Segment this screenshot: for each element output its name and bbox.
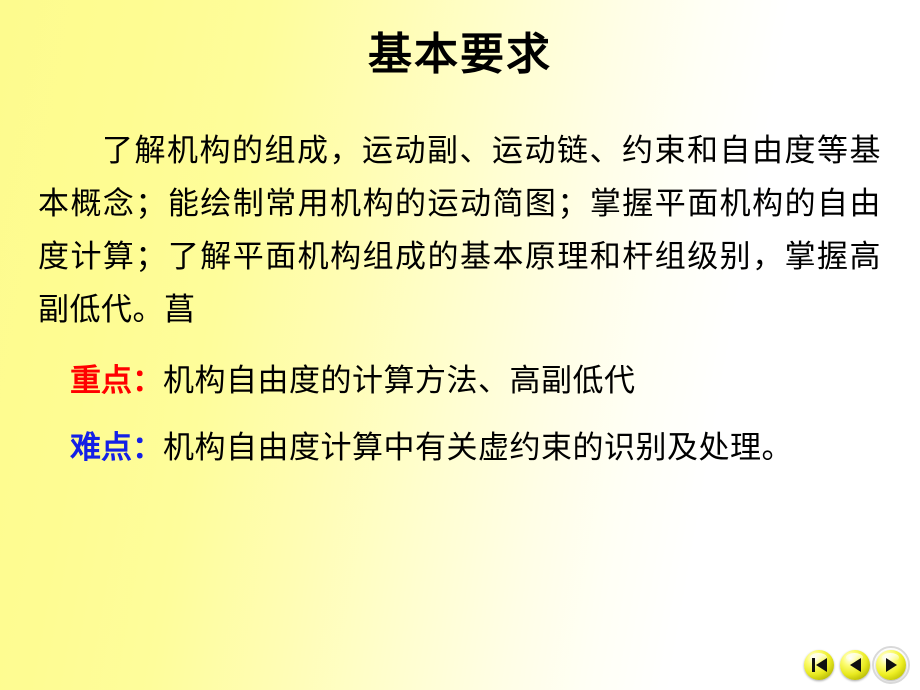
triangle-right-icon <box>886 658 897 672</box>
difficult-point-label: 难点： <box>70 430 163 466</box>
slide-body: 了解机构的组成，运动副、运动链、约束和自由度等基本概念；能绘制常用机构的运动简图… <box>38 125 888 475</box>
difficult-point-line: 难点：机构自由度计算中有关虚约束的识别及处理。 <box>38 422 888 475</box>
key-point-text: 机构自由度的计算方法、高副低代 <box>163 363 636 399</box>
previous-slide-button[interactable] <box>840 650 870 680</box>
next-slide-button[interactable] <box>876 650 906 680</box>
difficult-point-text: 机构自由度计算中有关虚约束的识别及处理。 <box>163 430 793 466</box>
key-point-line: 重点：机构自由度的计算方法、高副低代 <box>38 355 888 408</box>
first-slide-button[interactable] <box>804 650 834 680</box>
presentation-slide: 基本要求 了解机构的组成，运动副、运动链、约束和自由度等基本概念；能绘制常用机构… <box>0 0 920 690</box>
triangle-left-icon <box>850 658 861 672</box>
skip-back-icon <box>812 658 827 672</box>
page-title: 基本要求 <box>0 28 920 82</box>
intro-paragraph: 了解机构的组成，运动副、运动链、约束和自由度等基本概念；能绘制常用机构的运动简图… <box>38 125 881 337</box>
slide-navigation-bar <box>804 650 906 680</box>
key-point-label: 重点： <box>70 363 163 399</box>
